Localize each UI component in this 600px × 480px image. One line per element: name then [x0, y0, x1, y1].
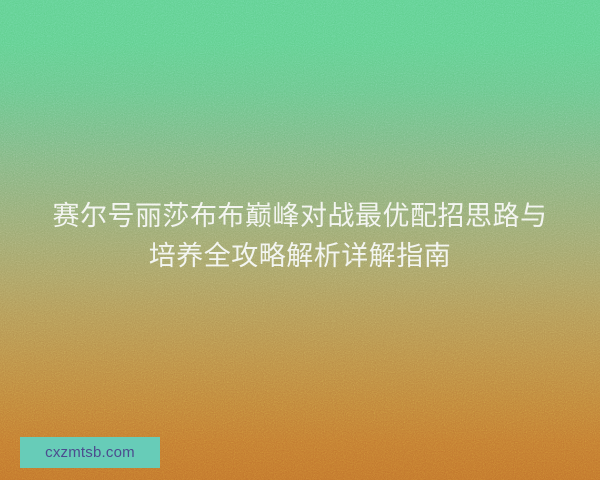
page-title-line-2: 培养全攻略解析详解指南	[18, 236, 582, 276]
article-cover-image: 赛尔号丽莎布布巅峰对战最优配招思路与 培养全攻略解析详解指南 cxzmtsb.c…	[0, 0, 600, 480]
watermark-site-label: cxzmtsb.com	[45, 445, 135, 460]
page-title: 赛尔号丽莎布布巅峰对战最优配招思路与 培养全攻略解析详解指南	[0, 196, 600, 276]
page-title-line-1: 赛尔号丽莎布布巅峰对战最优配招思路与	[18, 196, 582, 236]
watermark-badge: cxzmtsb.com	[20, 437, 160, 468]
